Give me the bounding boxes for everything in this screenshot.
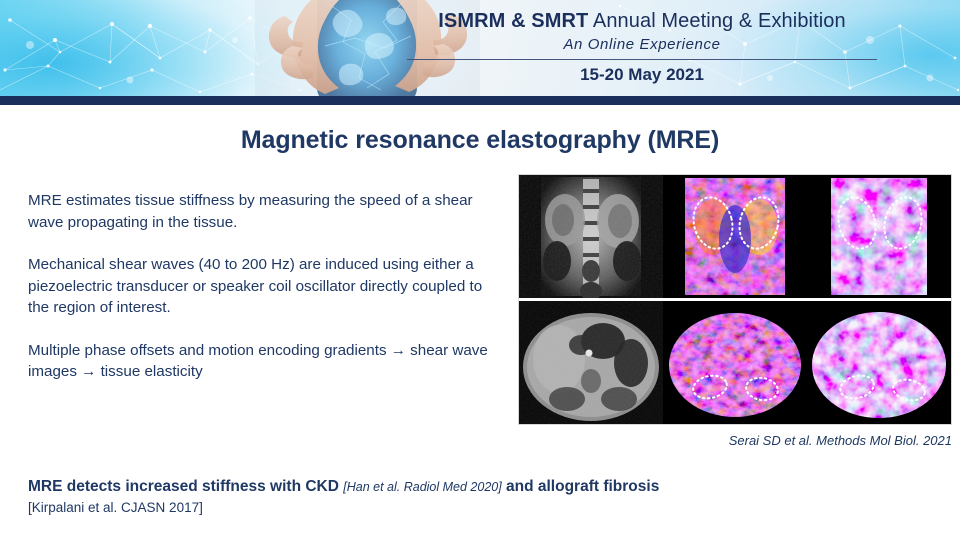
- footer-citation-kirpalani: [Kirpalani et al. CJASN 2017]: [28, 498, 938, 518]
- axial-anatomical-mri: [519, 301, 663, 424]
- footer-citation-han: [Han et al. Radiol Med 2020]: [343, 480, 501, 494]
- ismrm-header-banner: ISMRM & SMRT Annual Meeting & Exhibition…: [0, 0, 960, 96]
- footer-statement: MRE detects increased stiffness with CKD…: [28, 476, 938, 498]
- banner-org-name: ISMRM & SMRT: [438, 10, 588, 32]
- footer-statement-part2: and allograft fibrosis: [506, 478, 659, 495]
- banner-title-block: ISMRM & SMRT Annual Meeting & Exhibition…: [392, 8, 892, 92]
- coronal-shear-wave-image: [663, 175, 807, 298]
- coronal-elastogram: [807, 175, 951, 298]
- figure-row-coronal: [519, 175, 951, 298]
- mre-image-panel: [518, 174, 952, 425]
- banner-navy-bottom-bar: [0, 96, 960, 105]
- footer-block: MRE detects increased stiffness with CKD…: [28, 476, 938, 518]
- banner-divider-rule: [407, 59, 877, 60]
- paragraph-shear-wave-generation: Mechanical shear waves (40 to 200 Hz) ar…: [28, 254, 506, 319]
- footer-statement-part1: MRE detects increased stiffness with CKD: [28, 478, 339, 495]
- banner-subtitle: An Online Experience: [392, 34, 892, 56]
- axial-shear-wave-image: [663, 301, 807, 424]
- coronal-anatomical-mri: [519, 175, 663, 298]
- figure-row-axial: [519, 301, 951, 424]
- banner-dates: 15-20 May 2021: [392, 63, 892, 87]
- banner-event-name: Annual Meeting & Exhibition: [588, 10, 845, 32]
- figure-caption: Serai SD et al. Methods Mol Biol. 2021: [518, 433, 952, 448]
- paragraph-mre-definition: MRE estimates tissue stiffness by measur…: [28, 190, 506, 233]
- axial-elastogram: [807, 301, 951, 424]
- body-text-block: MRE estimates tissue stiffness by measur…: [28, 190, 506, 383]
- paragraph-phase-offsets: Multiple phase offsets and motion encodi…: [28, 340, 506, 383]
- page-title: Magnetic resonance elastography (MRE): [0, 126, 960, 155]
- banner-event-title: ISMRM & SMRT Annual Meeting & Exhibition: [392, 8, 892, 34]
